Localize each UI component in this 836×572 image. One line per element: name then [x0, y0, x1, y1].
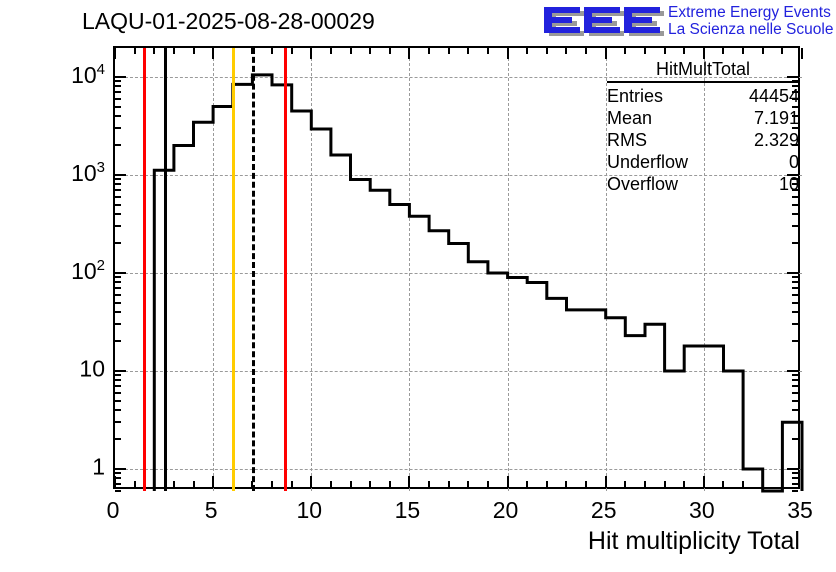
- stats-row-value: 44454: [749, 85, 799, 107]
- stats-row-label: Entries: [607, 85, 663, 107]
- stats-row-label: Underflow: [607, 151, 688, 173]
- stats-box-title: HitMultTotal: [607, 58, 799, 83]
- stats-row: Entries44454: [607, 85, 799, 107]
- marker-line-yellow-low-cut: [232, 48, 235, 491]
- y-tick-label: 102: [71, 257, 105, 285]
- x-tick-label: 10: [296, 497, 322, 524]
- x-tick-label: 15: [395, 497, 421, 524]
- x-axis-title: Hit multiplicity Total: [588, 527, 800, 556]
- plot-canvas: LAQU-01-2025-08-28-00029: [0, 0, 836, 572]
- stats-row: Overflow10: [607, 173, 799, 195]
- y-tick-label: 104: [71, 61, 105, 89]
- y-tick-label: 1: [92, 454, 105, 481]
- x-tick-label: 0: [107, 497, 120, 524]
- stats-row: Underflow0: [607, 151, 799, 173]
- stats-row-value: 0: [789, 151, 799, 173]
- eee-logo-text: Extreme Energy Events La Scienza nelle S…: [668, 4, 833, 38]
- stats-row-value: 10: [779, 173, 799, 195]
- y-tick-label: 103: [71, 159, 105, 187]
- stats-row-value: 2.329: [754, 129, 799, 151]
- stats-row-label: Mean: [607, 107, 652, 129]
- x-tick-label: 5: [205, 497, 218, 524]
- marker-line-mean-line: [252, 48, 255, 491]
- x-tick-label: 30: [689, 497, 715, 524]
- x-tick-label: 35: [787, 497, 813, 524]
- stats-box-rows: Entries44454Mean7.191RMS2.329Underflow0O…: [607, 85, 799, 195]
- marker-line-black-low-edge: [164, 48, 167, 491]
- page-title: LAQU-01-2025-08-28-00029: [82, 8, 375, 35]
- stats-row-label: RMS: [607, 129, 647, 151]
- stats-row: Mean7.191: [607, 107, 799, 129]
- x-tick-label: 20: [493, 497, 519, 524]
- eee-logo: Extreme Energy Events La Scienza nelle S…: [540, 2, 832, 42]
- x-tick-label: 25: [591, 497, 617, 524]
- eee-logo-line1: Extreme Energy Events: [668, 4, 833, 21]
- marker-line-red-high-cut: [284, 48, 287, 491]
- stats-row-label: Overflow: [607, 173, 678, 195]
- eee-logo-letters-icon: [540, 3, 670, 39]
- stats-row-value: 7.191: [754, 107, 799, 129]
- eee-logo-line2: La Scienza nelle Scuole: [668, 21, 833, 38]
- y-tick-label: 10: [79, 356, 105, 383]
- stats-box: HitMultTotal Entries44454Mean7.191RMS2.3…: [607, 58, 799, 195]
- marker-line-red-low-cut: [143, 48, 146, 491]
- stats-row: RMS2.329: [607, 129, 799, 151]
